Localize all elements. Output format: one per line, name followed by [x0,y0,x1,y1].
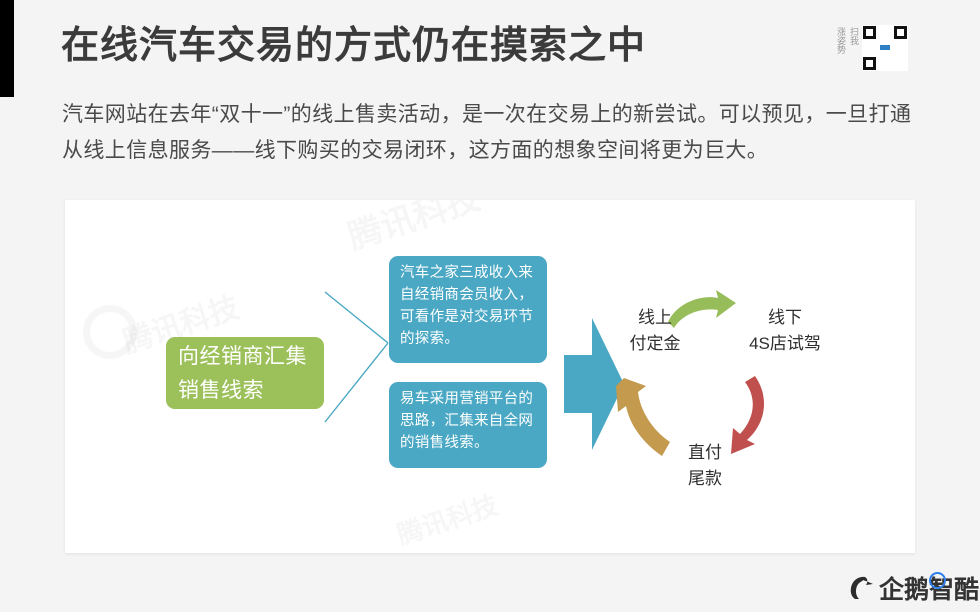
watermark-eye [83,305,137,359]
qr-code-icon[interactable] [862,25,908,71]
footer-brand: 企鹅智酷 [845,570,979,606]
cycle-step-final-line1: 直付 [655,440,755,466]
source-box[interactable]: 向经销商汇集销售线索 [166,337,324,409]
slide-subtitle: 汽车网站在去年“双十一”的线上售卖活动，是一次在交易上的新尝试。可以预见，一旦打… [62,97,912,169]
penguin-icon [845,574,875,602]
cycle-step-offline-line1: 线下 [720,305,850,331]
cycle-step-online: 线上 付定金 [605,305,705,357]
qr-label-left: 涨姿势 [836,27,846,54]
detail-box-bitauto[interactable]: 易车采用营销平台的思路，汇集来自全网的销售线索。 [389,382,547,468]
cycle-step-offline: 线下 4S店试驾 [720,305,850,357]
qr-finder-bottom-left [863,57,876,70]
detail-box-autohome[interactable]: 汽车之家三成收入来自经销商会员收入，可看作是对交易环节的探索。 [389,256,547,363]
footer-brand-text: 企鹅智酷 [879,570,979,606]
watermark-text-2: 腾讯科技 [341,200,485,259]
slide-canvas: 在线汽车交易的方式仍在摸索之中 汽车网站在去年“双十一”的线上售卖活动，是一次在… [0,0,980,612]
cycle-step-online-line1: 线上 [605,305,705,331]
purchase-cycle-diagram: 线上 付定金 线下 4S店试驾 直付 尾款 [560,280,880,510]
qr-block: 涨姿势 扫我 [836,25,908,71]
cycle-step-offline-line2: 4S店试驾 [720,331,850,357]
source-box-label: 向经销商汇集销售线索 [178,345,307,402]
accent-bar [0,0,14,97]
cycle-step-online-line2: 付定金 [605,331,705,357]
cycle-step-final-line2: 尾款 [655,466,755,492]
watermark-text-3: 腾讯科技 [392,485,502,552]
qr-label-right: 扫我 [849,27,859,45]
cycle-step-final-payment: 直付 尾款 [655,440,755,492]
page-title: 在线汽车交易的方式仍在摸索之中 [61,22,646,70]
qr-center-logo [879,44,891,51]
footer-ring-icon [929,572,946,589]
detail-box-2-label: 易车采用营销平台的思路，汇集来自全网的销售线索。 [400,391,533,451]
detail-box-1-label: 汽车之家三成收入来自经销商会员收入，可看作是对交易环节的探索。 [400,265,533,347]
